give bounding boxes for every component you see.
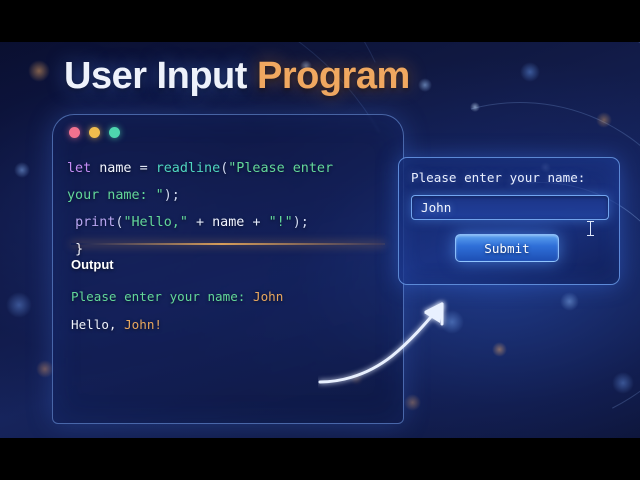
bokeh-particle (470, 102, 480, 112)
code-string-hello: "Hello," (123, 215, 188, 230)
code-string-prompt-part1: "Please enter (228, 161, 333, 176)
bokeh-particle (6, 292, 32, 318)
code-block: let name = readline("Please enter your n… (67, 155, 393, 263)
dialog-label: Please enter your name: (411, 170, 585, 185)
code-operator-plus-2: + (252, 215, 260, 230)
letterbox-bar-bottom (0, 438, 640, 480)
page-title-main: User Input (64, 55, 257, 97)
minimize-dot-icon[interactable] (89, 127, 100, 138)
output-prompt-value: John (253, 289, 283, 304)
screenshot-root: User Input Program let name = readline("… (0, 0, 640, 480)
window-controls (69, 127, 120, 138)
letterbox-bar-top (0, 0, 640, 42)
code-semicolon-1: ); (164, 188, 180, 203)
code-card: let name = readline("Please enter your n… (52, 114, 404, 424)
output-greeting-text: Hello, (71, 317, 124, 332)
close-dot-icon[interactable] (69, 127, 80, 138)
submit-button[interactable]: Submit (455, 234, 559, 262)
code-function-readline: readline (156, 161, 221, 176)
bokeh-particle (28, 60, 50, 82)
maximize-dot-icon[interactable] (109, 127, 120, 138)
code-string-bang: "!" (269, 215, 293, 230)
input-dialog: Please enter your name: John Submit (398, 157, 620, 285)
code-function-print: print (75, 215, 115, 230)
bokeh-particle (14, 162, 30, 178)
code-keyword-let: let (67, 161, 91, 176)
name-input-field[interactable]: John (411, 195, 609, 220)
page-title-accent: Program (257, 55, 410, 97)
bokeh-particle (612, 372, 634, 394)
background-scene: User Input Program let name = readline("… (0, 42, 640, 438)
i-beam-cursor-icon (587, 221, 594, 236)
bokeh-particle (418, 78, 432, 92)
output-heading: Output (71, 257, 114, 272)
code-var-name: name (99, 161, 131, 176)
output-prompt-text: Please enter your name: (71, 289, 253, 304)
name-input-value: John (421, 200, 451, 215)
bokeh-particle (560, 292, 579, 311)
code-operator-plus-1: + (196, 215, 204, 230)
code-semicolon-2: ); (293, 215, 309, 230)
bokeh-particle (596, 112, 612, 128)
page-title: User Input Program (64, 55, 410, 98)
output-line-greeting: Hello, John! (71, 311, 391, 339)
output-line-prompt: Please enter your name: John (71, 283, 391, 311)
bokeh-particle (520, 62, 540, 82)
bokeh-particle (440, 310, 464, 334)
bokeh-particle (492, 342, 507, 357)
output-lines: Please enter your name: John Hello, John… (71, 283, 391, 339)
code-var-name-2: name (212, 215, 244, 230)
code-operator-assign: = (140, 161, 148, 176)
code-string-prompt-part2: your name: " (67, 188, 164, 203)
output-greeting-value: John! (124, 317, 162, 332)
bokeh-particle (404, 394, 421, 411)
section-divider (71, 243, 385, 245)
